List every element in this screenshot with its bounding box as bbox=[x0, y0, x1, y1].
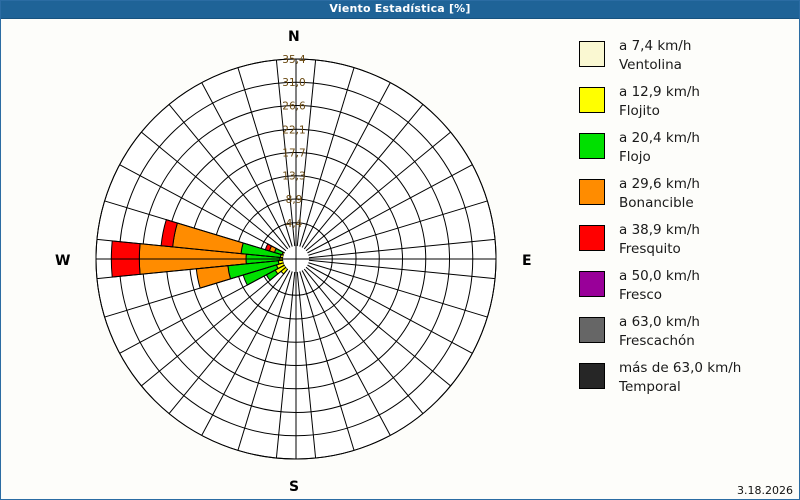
radial-tick-label-1: 8,9 bbox=[286, 194, 303, 206]
legend-label-fresquito-name: Fresquito bbox=[619, 240, 700, 259]
legend-label-fresco-name: Fresco bbox=[619, 286, 700, 305]
legend-label-frescachon-name: Frescachón bbox=[619, 332, 700, 351]
date-stamp: 3.18.2026 bbox=[737, 484, 793, 497]
radial-tick-label-5: 26,6 bbox=[282, 100, 306, 112]
radial-tick-label-6: 31,0 bbox=[282, 77, 305, 89]
radial-tick-label-7: 35,4 bbox=[282, 54, 306, 66]
legend-item-bonancible[interactable]: a 29,6 km/h Bonancible bbox=[579, 175, 794, 221]
legend-swatch-frescachon bbox=[579, 317, 605, 343]
legend-label-temporal-name: Temporal bbox=[619, 378, 741, 397]
legend-label-flojo-name: Flojo bbox=[619, 148, 700, 167]
compass-label-west: W bbox=[55, 253, 70, 269]
legend-label-temporal-speed: más de 63,0 km/h bbox=[619, 359, 741, 378]
window-root: Viento Estadística [%] 4,48,913,317,722,… bbox=[0, 0, 800, 500]
compass-label-south: S bbox=[289, 479, 299, 495]
radial-tick-label-3: 17,7 bbox=[282, 148, 305, 160]
legend-item-temporal[interactable]: más de 63,0 km/h Temporal bbox=[579, 359, 794, 405]
compass-label-east: E bbox=[522, 253, 532, 269]
legend-swatch-temporal bbox=[579, 363, 605, 389]
page-title: Viento Estadística [%] bbox=[1, 2, 799, 15]
legend-swatch-bonancible bbox=[579, 179, 605, 205]
legend-item-fresquito[interactable]: a 38,9 km/h Fresquito bbox=[579, 221, 794, 267]
legend-swatch-ventolina bbox=[579, 41, 605, 67]
legend-swatch-fresquito bbox=[579, 225, 605, 251]
legend-item-ventolina[interactable]: a 7,4 km/h Ventolina bbox=[579, 37, 794, 83]
legend-label-ventolina-speed: a 7,4 km/h bbox=[619, 37, 691, 56]
legend-item-flojito[interactable]: a 12,9 km/h Flojito bbox=[579, 83, 794, 129]
window-title-bar: Viento Estadística [%] bbox=[1, 1, 799, 19]
legend-label-fresco-speed: a 50,0 km/h bbox=[619, 267, 700, 286]
legend-label-fresquito-speed: a 38,9 km/h bbox=[619, 221, 700, 240]
legend-label-flojito-name: Flojito bbox=[619, 102, 700, 121]
legend-swatch-flojito bbox=[579, 87, 605, 113]
legend-label-ventolina-name: Ventolina bbox=[619, 56, 691, 75]
legend-item-fresco[interactable]: a 50,0 km/h Fresco bbox=[579, 267, 794, 313]
radial-tick-label-4: 22,1 bbox=[282, 124, 305, 136]
legend: a 7,4 km/h Ventolina a 12,9 km/h Flojito… bbox=[579, 37, 794, 405]
legend-swatch-flojo bbox=[579, 133, 605, 159]
radial-tick-label-0: 4,4 bbox=[286, 218, 303, 230]
legend-label-bonancible-name: Bonancible bbox=[619, 194, 700, 213]
compass-label-north: N bbox=[288, 29, 300, 45]
legend-label-flojito-speed: a 12,9 km/h bbox=[619, 83, 700, 102]
legend-label-bonancible-speed: a 29,6 km/h bbox=[619, 175, 700, 194]
legend-swatch-fresco bbox=[579, 271, 605, 297]
radial-tick-label-2: 13,3 bbox=[282, 171, 305, 183]
legend-item-flojo[interactable]: a 20,4 km/h Flojo bbox=[579, 129, 794, 175]
legend-label-frescachon-speed: a 63,0 km/h bbox=[619, 313, 700, 332]
legend-label-flojo-speed: a 20,4 km/h bbox=[619, 129, 700, 148]
legend-item-frescachon[interactable]: a 63,0 km/h Frescachón bbox=[579, 313, 794, 359]
